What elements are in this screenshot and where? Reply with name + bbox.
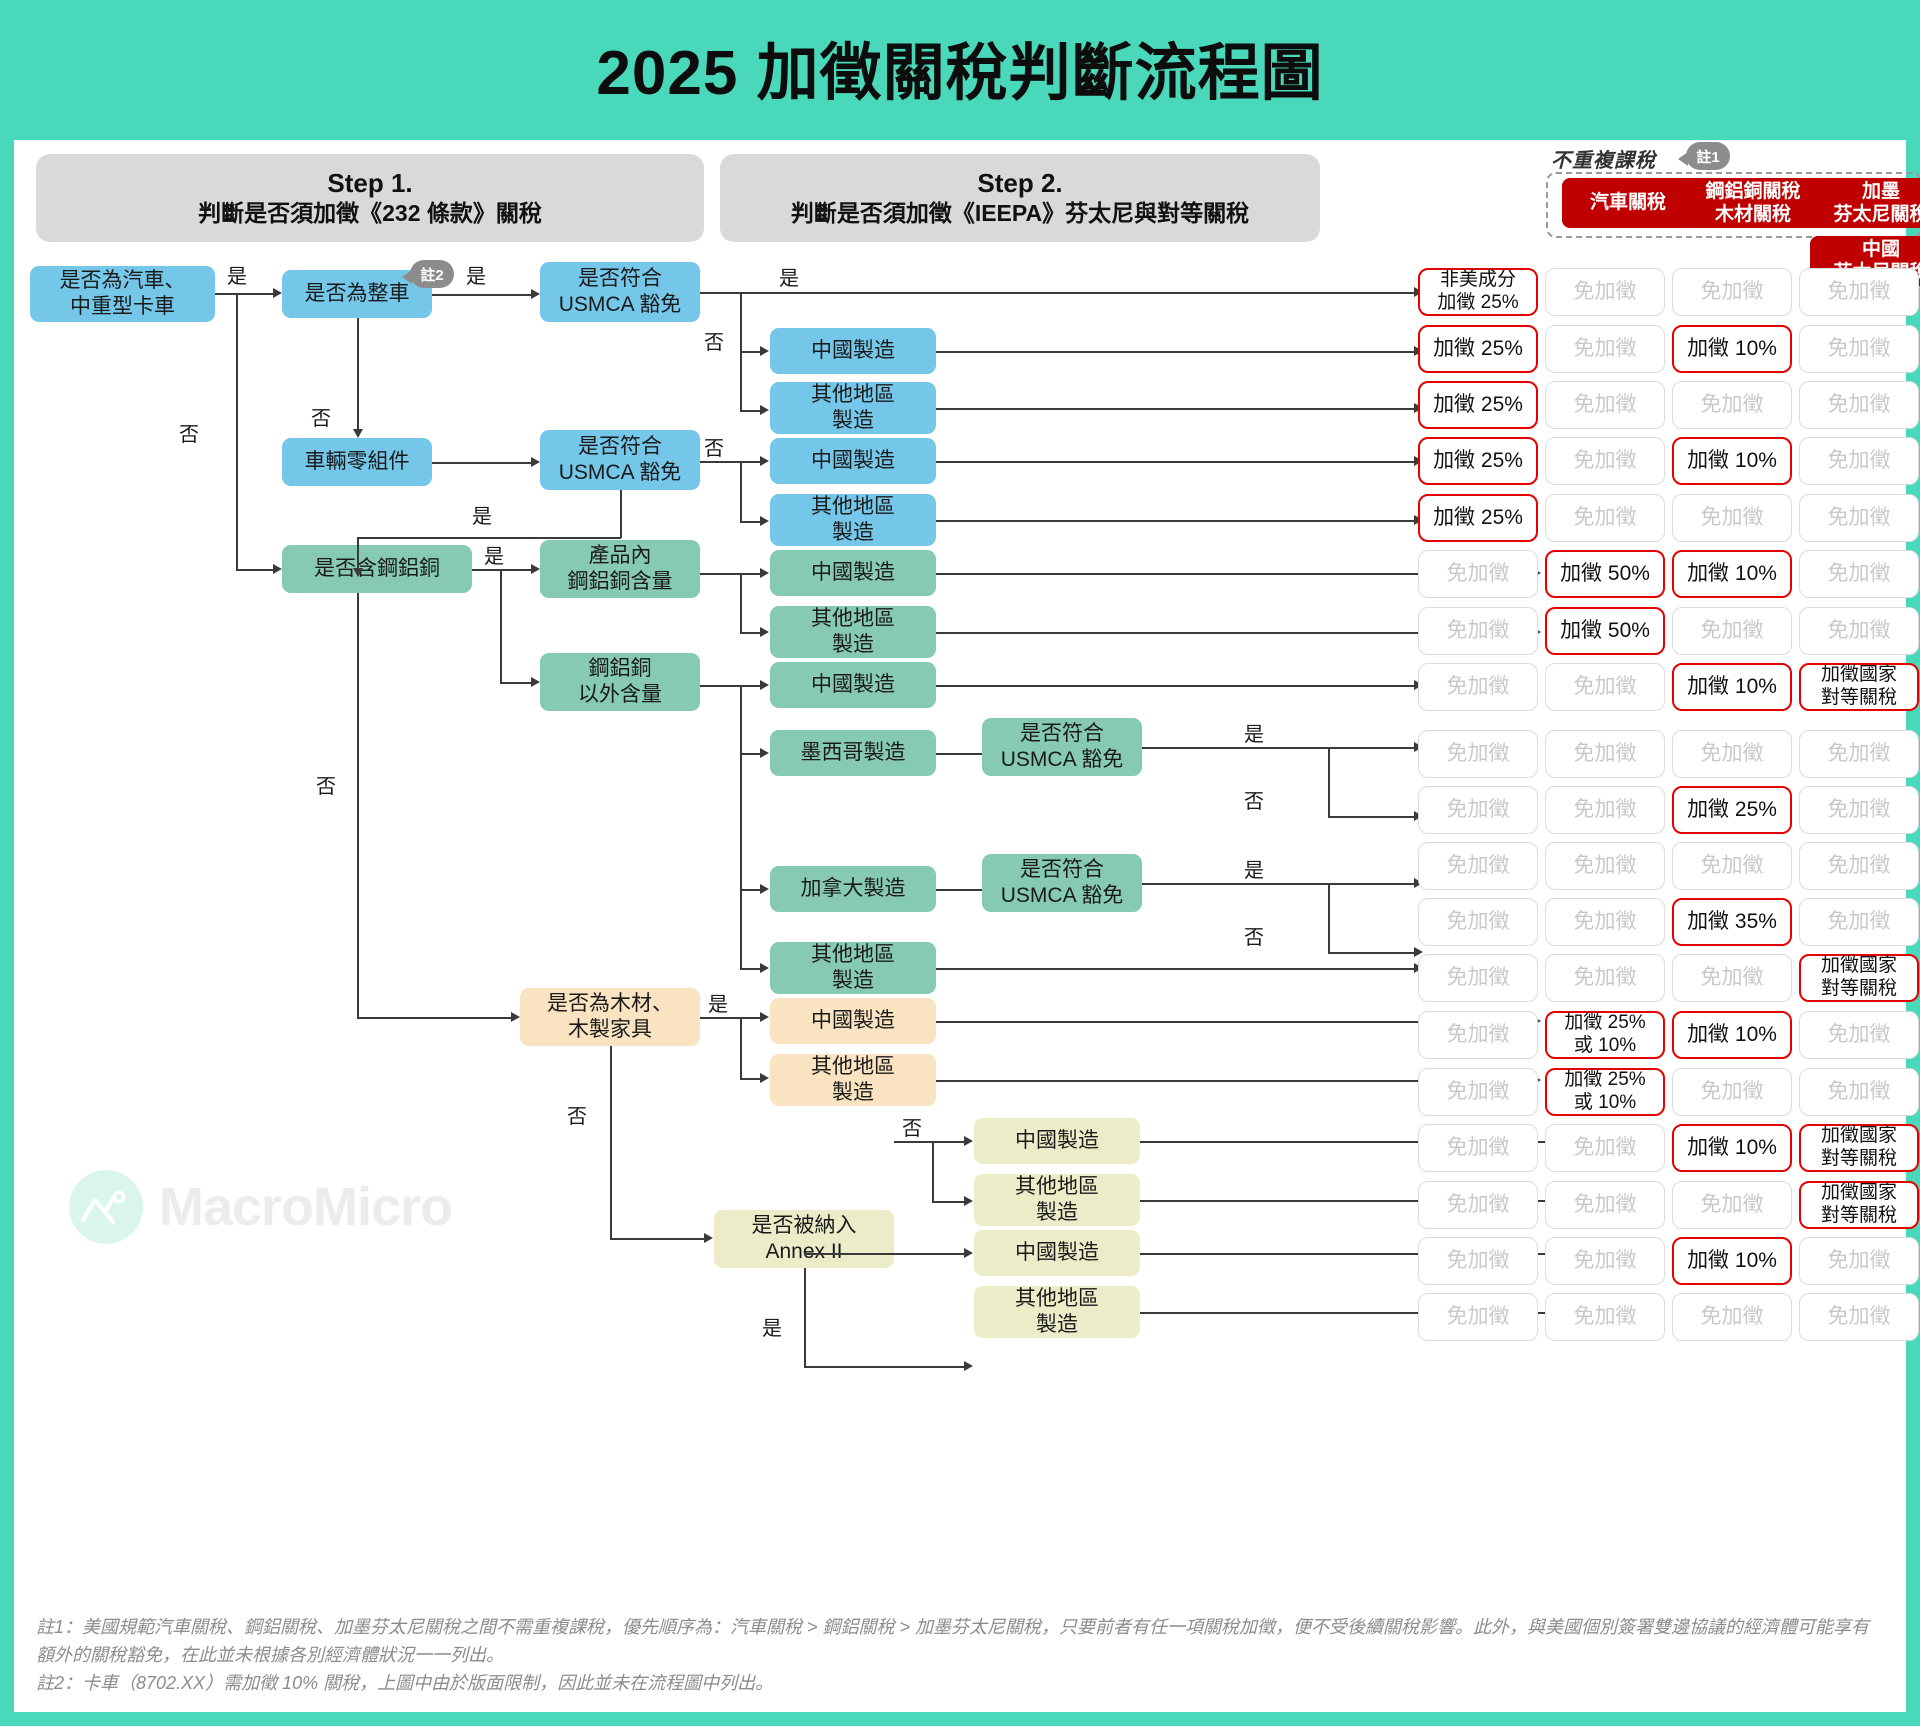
footnotes: 註1：美國規範汽車關稅、鋼鋁關稅、加墨芬太尼關稅之間不需重複課稅，優先順序為：汽… [36,1614,1886,1698]
step-1-number: Step 1. [327,167,412,200]
macromicro-logo-icon [69,1170,143,1244]
result-cell-r15-c4: 免加徵 [1799,1068,1919,1116]
origin-node-other-r13[interactable]: 其他地區製造 [770,942,936,994]
result-cell-r19-c3: 免加徵 [1672,1293,1792,1341]
result-cell-r9-c2: 免加徵 [1545,730,1665,778]
origin-node-other-annex[interactable]: 其他地區製造 [974,1286,1140,1338]
edge-label-yes-mx: 是 [1244,718,1264,747]
result-cell-r1-c4: 免加徵 [1799,268,1919,316]
result-cell-r12-c3: 加徵 35% [1672,898,1792,946]
node-annex-ii[interactable]: 是否被納入Annex II [714,1210,894,1268]
result-cell-r14-c2: 加徵 25%或 10% [1545,1011,1665,1059]
result-cell-r5-c4: 免加徵 [1799,494,1919,542]
result-cell-r17-c2: 免加徵 [1545,1181,1665,1229]
origin-node-china-r2[interactable]: 中國製造 [770,328,936,374]
result-cell-r19-c4: 免加徵 [1799,1293,1919,1341]
edge-label-yes-1: 是 [227,260,247,289]
result-cell-r10-c3: 加徵 25% [1672,786,1792,834]
step-2-number: Step 2. [977,167,1062,200]
footnote-2: 註2：卡車（8702.XX）需加徵 10% 關稅，上圖中由於版面限制，因此並未在… [36,1670,1886,1698]
node-has-steel-alu-copper[interactable]: 是否含鋼鋁銅 [282,545,472,593]
edge-label-yes-annex: 是 [762,1312,782,1341]
result-cell-r10-c4: 免加徵 [1799,786,1919,834]
result-cell-r15-c3: 免加徵 [1672,1068,1792,1116]
result-cell-r14-c3: 加徵 10% [1672,1011,1792,1059]
edge-label-yes-ca: 是 [1244,854,1264,883]
no-duplicate-tax-label: 不重複課稅 [1551,144,1656,173]
node-usmca-exemption-1[interactable]: 是否符合USMCA 豁免 [540,262,700,322]
result-cell-r7-c2: 加徵 50% [1545,607,1665,655]
step-2-desc: 判斷是否須加徵《IEEPA》芬太尼與對等關稅 [791,199,1249,229]
result-cell-r2-c2: 免加徵 [1545,325,1665,373]
result-cell-r5-c3: 免加徵 [1672,494,1792,542]
result-cell-r16-c4: 加徵國家對等關稅 [1799,1124,1919,1172]
result-cell-r14-c4: 免加徵 [1799,1011,1919,1059]
edge-label-no-4: 否 [704,432,724,461]
chart-canvas: Step 1. 判斷是否須加徵《232 條款》關稅 Step 2. 判斷是否須加… [14,140,1906,1712]
result-cell-r11-c2: 免加徵 [1545,842,1665,890]
edge-label-yes-2: 是 [466,260,486,289]
node-usmca-exemption-canada[interactable]: 是否符合USMCA 豁免 [982,854,1142,912]
result-cell-r15-c2: 加徵 25%或 10% [1545,1068,1665,1116]
header-col-metal-wood-tariff: 鋼鋁銅關稅木材關稅 [1682,178,1824,228]
origin-node-china-annex[interactable]: 中國製造 [974,1230,1140,1276]
result-cell-r11-c3: 免加徵 [1672,842,1792,890]
result-cell-r2-c4: 免加徵 [1799,325,1919,373]
origin-node-other-nonannex[interactable]: 其他地區製造 [974,1174,1140,1226]
result-cell-r6-c4: 免加徵 [1799,550,1919,598]
result-cell-r6-c3: 加徵 10% [1672,550,1792,598]
result-cell-r7-c1: 免加徵 [1418,607,1538,655]
note1-badge: 註1 [1686,142,1730,170]
result-cell-r7-c4: 免加徵 [1799,607,1919,655]
result-cell-r18-c3: 加徵 10% [1672,1237,1792,1285]
flowchart-page: 2025 加徵關稅判斷流程圖 Step 1. 判斷是否須加徵《232 條款》關稅… [0,0,1920,1726]
result-cell-r8-c1: 免加徵 [1418,663,1538,711]
node-is-vehicle[interactable]: 是否為汽車、中重型卡車 [30,266,215,322]
edge-label-no-wood: 否 [567,1100,587,1129]
result-cell-r9-c1: 免加徵 [1418,730,1538,778]
result-cell-r18-c2: 免加徵 [1545,1237,1665,1285]
edge-label-no-mx: 否 [1244,785,1264,814]
result-cell-r1-c1: 非美成分加徵 25% [1418,268,1538,316]
result-cell-r13-c4: 加徵國家對等關稅 [1799,954,1919,1002]
edge-label-yes-5: 是 [484,540,504,569]
result-cell-r10-c2: 免加徵 [1545,786,1665,834]
origin-node-china-wood[interactable]: 中國製造 [770,998,936,1044]
header-col-ca-mx-fentanyl-tariff: 加墨芬太尼關稅 [1810,178,1920,228]
edge-label-no-5: 否 [316,770,336,799]
result-cell-r8-c4: 加徵國家對等關稅 [1799,663,1919,711]
result-cell-r18-c1: 免加徵 [1418,1237,1538,1285]
result-cell-r16-c3: 加徵 10% [1672,1124,1792,1172]
result-cell-r13-c3: 免加徵 [1672,954,1792,1002]
result-cell-r12-c2: 免加徵 [1545,898,1665,946]
result-cell-r17-c4: 加徵國家對等關稅 [1799,1181,1919,1229]
result-cell-r6-c1: 免加徵 [1418,550,1538,598]
result-cell-r14-c1: 免加徵 [1418,1011,1538,1059]
result-cell-r4-c1: 加徵 25% [1418,437,1538,485]
result-cell-r4-c4: 免加徵 [1799,437,1919,485]
result-cell-r19-c2: 免加徵 [1545,1293,1665,1341]
result-cell-r3-c1: 加徵 25% [1418,381,1538,429]
watermark-text: MacroMicro [159,1176,452,1238]
result-cell-r5-c2: 免加徵 [1545,494,1665,542]
node-steel-content[interactable]: 產品內鋼鋁銅含量 [540,540,700,598]
edge-label-yes-3: 是 [779,262,799,291]
result-cell-r13-c2: 免加徵 [1545,954,1665,1002]
result-cell-r3-c2: 免加徵 [1545,381,1665,429]
node-non-steel-content[interactable]: 鋼鋁銅以外含量 [540,653,700,711]
node-vehicle-parts[interactable]: 車輛零組件 [282,438,432,486]
node-is-wood[interactable]: 是否為木材、木製家具 [520,988,700,1046]
step-1-banner: Step 1. 判斷是否須加徵《232 條款》關稅 [36,154,704,242]
result-cell-r18-c4: 免加徵 [1799,1237,1919,1285]
node-usmca-exemption-mexico[interactable]: 是否符合USMCA 豁免 [982,718,1142,776]
result-cell-r1-c3: 免加徵 [1672,268,1792,316]
note2-badge: 註2 [410,260,454,288]
result-cell-r2-c1: 加徵 25% [1418,325,1538,373]
edge-label-no-2: 否 [311,402,331,431]
result-cell-r3-c3: 免加徵 [1672,381,1792,429]
origin-node-mexico[interactable]: 墨西哥製造 [770,730,936,776]
origin-node-china-r4[interactable]: 中國製造 [770,438,936,484]
result-cell-r9-c3: 免加徵 [1672,730,1792,778]
result-cell-r13-c1: 免加徵 [1418,954,1538,1002]
result-cell-r16-c2: 免加徵 [1545,1124,1665,1172]
origin-node-other-r3[interactable]: 其他地區製造 [770,382,936,434]
edge-label-yes-wood: 是 [708,988,728,1017]
result-cell-r12-c1: 免加徵 [1418,898,1538,946]
result-cell-r3-c4: 免加徵 [1799,381,1919,429]
result-cell-r4-c3: 加徵 10% [1672,437,1792,485]
origin-node-china-r6[interactable]: 中國製造 [770,550,936,596]
origin-node-other-r5[interactable]: 其他地區製造 [770,494,936,546]
edge-label-no-1: 否 [179,418,199,447]
result-cell-r8-c2: 免加徵 [1545,663,1665,711]
edge-label-no-annex: 否 [902,1112,922,1141]
result-cell-r7-c3: 免加徵 [1672,607,1792,655]
result-cell-r6-c2: 加徵 50% [1545,550,1665,598]
origin-node-china-r8[interactable]: 中國製造 [770,662,936,708]
result-cell-r2-c3: 加徵 10% [1672,325,1792,373]
footnote-1: 註1：美國規範汽車關稅、鋼鋁關稅、加墨芬太尼關稅之間不需重複課稅，優先順序為：汽… [36,1614,1886,1670]
result-cell-r8-c3: 加徵 10% [1672,663,1792,711]
result-cell-r17-c1: 免加徵 [1418,1181,1538,1229]
page-title: 2025 加徵關稅判斷流程圖 [0,22,1920,112]
result-cell-r16-c1: 免加徵 [1418,1124,1538,1172]
result-cell-r11-c1: 免加徵 [1418,842,1538,890]
result-cell-r17-c3: 免加徵 [1672,1181,1792,1229]
watermark: MacroMicro [69,1170,452,1244]
result-cell-r19-c1: 免加徵 [1418,1293,1538,1341]
origin-node-canada[interactable]: 加拿大製造 [770,866,936,912]
result-cell-r12-c4: 免加徵 [1799,898,1919,946]
step-1-desc: 判斷是否須加徵《232 條款》關稅 [198,199,542,229]
origin-node-other-r7[interactable]: 其他地區製造 [770,606,936,658]
step-2-banner: Step 2. 判斷是否須加徵《IEEPA》芬太尼與對等關稅 [720,154,1320,242]
edge-label-no-ca: 否 [1244,921,1264,950]
header-col-auto-tariff: 汽車關稅 [1562,178,1694,228]
result-cell-r5-c1: 加徵 25% [1418,494,1538,542]
result-cell-r9-c4: 免加徵 [1799,730,1919,778]
result-cell-r15-c1: 免加徵 [1418,1068,1538,1116]
result-cell-r10-c1: 免加徵 [1418,786,1538,834]
result-cell-r11-c4: 免加徵 [1799,842,1919,890]
origin-node-china-nonannex[interactable]: 中國製造 [974,1118,1140,1164]
origin-node-other-wood[interactable]: 其他地區製造 [770,1054,936,1106]
node-usmca-exemption-2[interactable]: 是否符合USMCA 豁免 [540,430,700,490]
edge-label-yes-4: 是 [472,500,492,529]
edge-label-no-3: 否 [704,326,724,355]
result-cell-r4-c2: 免加徵 [1545,437,1665,485]
result-cell-r1-c2: 免加徵 [1545,268,1665,316]
